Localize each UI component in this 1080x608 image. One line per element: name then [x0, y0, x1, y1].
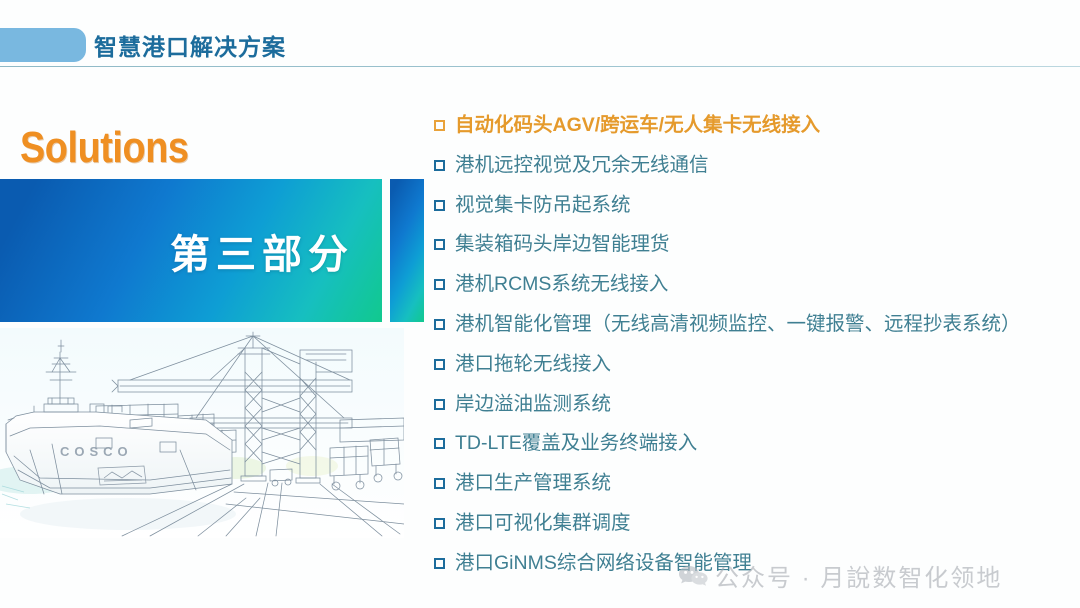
solutions-bullet-list: 自动化码头AGV/跨运车/无人集卡无线接入 港机远控视觉及冗余无线通信 视觉集卡… [434, 111, 1070, 589]
svg-text:COSCO: COSCO [60, 444, 133, 459]
list-item[interactable]: 集装箱码头岸边智能理货 [434, 230, 1070, 270]
hollow-square-bullet-icon [434, 200, 445, 211]
list-item[interactable]: 岸边溢油监测系统 [434, 390, 1070, 430]
hollow-square-bullet-icon [434, 438, 445, 449]
list-item-label: 港口可视化集群调度 [455, 509, 631, 537]
hollow-square-bullet-icon [434, 319, 445, 330]
port-container-ship-illustration: COSCO [0, 328, 404, 538]
list-item[interactable]: 港机RCMS系统无线接入 [434, 270, 1070, 310]
section-part-label: 第三部分 [0, 179, 382, 322]
list-item[interactable]: TD-LTE覆盖及业务终端接入 [434, 429, 1070, 469]
hollow-square-bullet-icon [434, 518, 445, 529]
hollow-square-bullet-icon [434, 160, 445, 171]
list-item[interactable]: 自动化码头AGV/跨运车/无人集卡无线接入 [434, 111, 1070, 151]
list-item-label: TD-LTE覆盖及业务终端接入 [455, 429, 697, 457]
hollow-square-bullet-icon [434, 120, 445, 131]
header-divider [0, 66, 1080, 67]
hollow-square-bullet-icon [434, 399, 445, 410]
list-item[interactable]: 港口生产管理系统 [434, 469, 1070, 509]
slide-canvas: 智慧港口解决方案 Solutions 第三部分 [0, 0, 1080, 608]
list-item[interactable]: 视觉集卡防吊起系统 [434, 191, 1070, 231]
page-title: 智慧港口解决方案 [94, 28, 286, 62]
header-accent-tab [0, 28, 86, 62]
section-title-english: Solutions [20, 123, 189, 173]
list-item-label: 港口生产管理系统 [455, 469, 611, 497]
list-item[interactable]: 港口拖轮无线接入 [434, 350, 1070, 390]
list-item-label: 港机RCMS系统无线接入 [455, 270, 668, 298]
list-item-label: 自动化码头AGV/跨运车/无人集卡无线接入 [455, 111, 820, 139]
list-item-label: 港机远控视觉及冗余无线通信 [455, 151, 709, 179]
list-item-label: 港机智能化管理（无线高清视频监控、一键报警、远程抄表系统） [455, 310, 1021, 338]
list-item-label: 岸边溢油监测系统 [455, 390, 611, 418]
list-item[interactable]: 港口可视化集群调度 [434, 509, 1070, 549]
hollow-square-bullet-icon [434, 279, 445, 290]
section-gradient-accent-strip [390, 179, 424, 322]
list-item[interactable]: 港机远控视觉及冗余无线通信 [434, 151, 1070, 191]
list-item[interactable]: 港机智能化管理（无线高清视频监控、一键报警、远程抄表系统） [434, 310, 1070, 350]
wechat-speech-bubble-icon [678, 564, 708, 588]
watermark: 公众号 · 月說数智化领地 [678, 558, 1002, 593]
hollow-square-bullet-icon [434, 239, 445, 250]
hollow-square-bullet-icon [434, 359, 445, 370]
list-item-label: 集装箱码头岸边智能理货 [455, 230, 670, 258]
hollow-square-bullet-icon [434, 558, 445, 569]
watermark-label: 公众号 · 月說数智化领地 [715, 558, 1002, 593]
hollow-square-bullet-icon [434, 478, 445, 489]
list-item-label: 港口拖轮无线接入 [455, 350, 611, 378]
list-item-label: 视觉集卡防吊起系统 [455, 191, 631, 219]
